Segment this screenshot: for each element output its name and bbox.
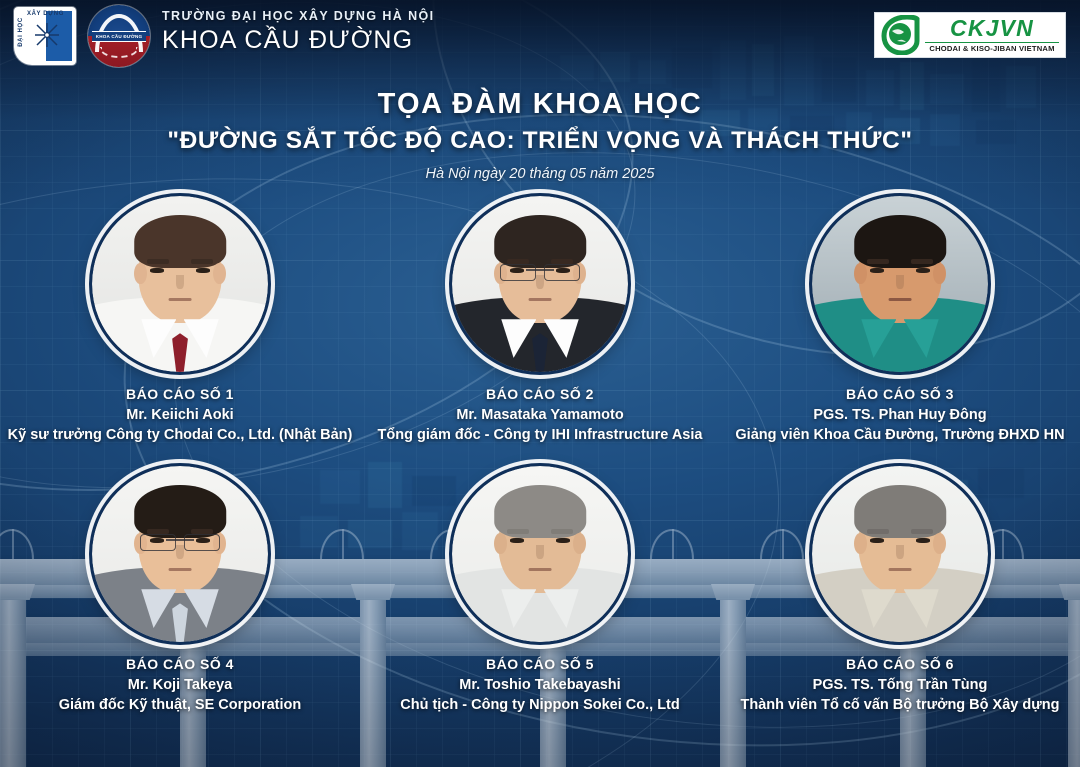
huce-shield-logo: XÂY DỰNG ĐẠI HỌC (14, 7, 76, 65)
speaker-name: Mr. Koji Takeya (59, 675, 302, 696)
speaker-photo-phan-huy-dong (812, 196, 988, 372)
speaker-card: BÁO CÁO SỐ 6 PGS. TS. Tống Trần Tùng Thà… (720, 466, 1080, 716)
ckjvn-logo: CKJVN CHODAI & KISO-JIBAN VIETNAM (874, 12, 1066, 58)
speaker-grid: BÁO CÁO SỐ 1 Mr. Keiichi Aoki Kỹ sư trưở… (0, 196, 1080, 716)
speaker-caption: BÁO CÁO SỐ 6 PGS. TS. Tống Trần Tùng Thà… (741, 655, 1060, 716)
speaker-photo-tong-tran-tung (812, 466, 988, 642)
huce-flower-icon (32, 20, 62, 50)
speaker-caption: BÁO CÁO SỐ 5 Mr. Toshio Takebayashi Chủ … (400, 655, 680, 716)
huce-logo-top-text: XÂY DỰNG (27, 11, 64, 17)
speaker-card: BÁO CÁO SỐ 5 Mr. Toshio Takebayashi Chủ … (360, 466, 720, 716)
speaker-photo-toshio-takebayashi (452, 466, 628, 642)
speaker-card: BÁO CÁO SỐ 3 PGS. TS. Phan Huy Đông Giản… (720, 196, 1080, 446)
university-title-block: TRƯỜNG ĐẠI HỌC XÂY DỰNG HÀ NỘI KHOA CẦU … (162, 9, 435, 55)
event-date: Hà Nội ngày 20 tháng 05 năm 2025 (0, 166, 1080, 182)
speaker-card: BÁO CÁO SỐ 2 Mr. Masataka Yamamoto Tổng … (360, 196, 720, 446)
ckjvn-wordmark: CKJVN (925, 17, 1059, 40)
event-title-line1: TỌA ĐÀM KHOA HỌC (0, 88, 1080, 121)
speaker-name: Mr. Keiichi Aoki (8, 405, 353, 426)
report-number: BÁO CÁO SỐ 5 (400, 655, 680, 675)
speaker-photo-masataka-yamamoto (452, 196, 628, 372)
report-number: BÁO CÁO SỐ 1 (8, 385, 353, 405)
speaker-role: Giảng viên Khoa Cầu Đường, Trường ĐHXD H… (735, 425, 1064, 446)
speaker-role: Thành viên Tổ cố vấn Bộ trưởng Bộ Xây dự… (741, 695, 1060, 716)
huce-logo-side-text: ĐẠI HỌC (18, 17, 24, 47)
speaker-caption: BÁO CÁO SỐ 3 PGS. TS. Phan Huy Đông Giản… (735, 385, 1064, 446)
speaker-caption: BÁO CÁO SỐ 4 Mr. Koji Takeya Giám đốc Kỹ… (59, 655, 302, 716)
report-number: BÁO CÁO SỐ 4 (59, 655, 302, 675)
university-name: TRƯỜNG ĐẠI HỌC XÂY DỰNG HÀ NỘI (162, 9, 435, 23)
speaker-card: BÁO CÁO SỐ 4 Mr. Koji Takeya Giám đốc Kỹ… (0, 466, 360, 716)
report-number: BÁO CÁO SỐ 2 (378, 385, 703, 405)
speaker-name: Mr. Masataka Yamamoto (378, 405, 703, 426)
speaker-photo-keiichi-aoki (92, 196, 268, 372)
speaker-role: Tổng giám đốc - Công ty IHI Infrastructu… (378, 425, 703, 446)
speaker-caption: BÁO CÁO SỐ 1 Mr. Keiichi Aoki Kỹ sư trưở… (8, 385, 353, 446)
speaker-photo-koji-takeya (92, 466, 268, 642)
report-number: BÁO CÁO SỐ 3 (735, 385, 1064, 405)
khoa-cau-duong-seal: KHOA CẦU ĐƯỜNG (88, 5, 150, 67)
event-title-block: TỌA ĐÀM KHOA HỌC "ĐƯỜNG SẮT TỐC ĐỘ CAO: … (0, 88, 1080, 182)
speaker-name: PGS. TS. Phan Huy Đông (735, 405, 1064, 426)
speaker-caption: BÁO CÁO SỐ 2 Mr. Masataka Yamamoto Tổng … (378, 385, 703, 446)
speaker-role: Kỹ sư trưởng Công ty Chodai Co., Ltd. (N… (8, 425, 353, 446)
poster-header: XÂY DỰNG ĐẠI HỌC KHOA CẦU ĐƯỜNG TRƯỜNG Đ… (0, 0, 1080, 72)
faculty-name: KHOA CẦU ĐƯỜNG (162, 26, 435, 55)
ckjvn-tagline: CHODAI & KISO-JIBAN VIETNAM (925, 42, 1059, 53)
speaker-name: Mr. Toshio Takebayashi (400, 675, 680, 696)
speaker-role: Giám đốc Kỹ thuật, SE Corporation (59, 695, 302, 716)
event-title-line2: "ĐƯỜNG SẮT TỐC ĐỘ CAO: TRIỂN VỌNG VÀ THÁ… (0, 127, 1080, 155)
ckjvn-globe-icon (881, 15, 923, 55)
speaker-name: PGS. TS. Tống Trần Tùng (741, 675, 1060, 696)
speaker-role: Chủ tịch - Công ty Nippon Sokei Co., Ltd (400, 695, 680, 716)
speaker-card: BÁO CÁO SỐ 1 Mr. Keiichi Aoki Kỹ sư trưở… (0, 196, 360, 446)
report-number: BÁO CÁO SỐ 6 (741, 655, 1060, 675)
seal-band-text: KHOA CẦU ĐƯỜNG (96, 34, 143, 39)
